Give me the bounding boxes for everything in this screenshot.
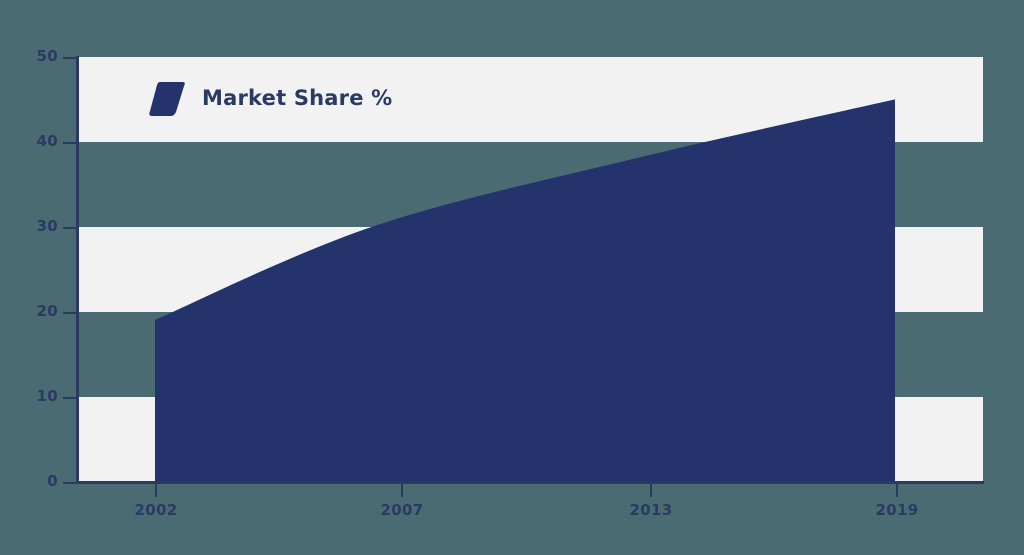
y-tick-20 xyxy=(63,312,76,314)
y-tick-label-20: 20 xyxy=(37,304,58,319)
x-tick-label-2019: 2019 xyxy=(857,503,937,518)
y-tick-10 xyxy=(63,397,76,399)
y-tick-label-30-wrap: 30 xyxy=(0,219,58,235)
x-axis-line xyxy=(76,481,984,484)
x-tick-2002 xyxy=(155,484,157,497)
x-tick-label-2013: 2013 xyxy=(611,503,691,518)
legend-marker-market-share[interactable] xyxy=(148,79,186,117)
y-tick-label-0: 0 xyxy=(47,474,58,489)
area-chart: 50 40 30 20 10 0 2002 2007 2013 2019 Mar… xyxy=(0,0,1024,555)
y-tick-50 xyxy=(63,57,76,59)
y-tick-0 xyxy=(63,482,76,484)
y-tick-label-10: 10 xyxy=(37,389,58,404)
y-axis-line xyxy=(76,56,79,484)
y-tick-label-0-wrap: 0 xyxy=(0,474,58,490)
y-tick-label-50-wrap: 50 xyxy=(0,49,58,65)
y-tick-40 xyxy=(63,142,76,144)
x-tick-2019 xyxy=(896,484,898,497)
area-path xyxy=(155,99,895,481)
x-tick-label-2002: 2002 xyxy=(116,503,196,518)
y-tick-label-50: 50 xyxy=(37,49,58,64)
y-tick-label-40: 40 xyxy=(37,134,58,149)
x-tick-label-2007: 2007 xyxy=(362,503,442,518)
legend-marker-shape xyxy=(149,82,184,116)
y-tick-30 xyxy=(63,227,76,229)
x-tick-2013 xyxy=(650,484,652,497)
x-tick-2007 xyxy=(401,484,403,497)
y-tick-label-20-wrap: 20 xyxy=(0,304,58,320)
y-tick-label-40-wrap: 40 xyxy=(0,134,58,150)
y-tick-label-10-wrap: 10 xyxy=(0,389,58,405)
legend-label-market-share: Market Share % xyxy=(202,86,392,110)
y-tick-label-30: 30 xyxy=(37,219,58,234)
legend: Market Share % xyxy=(148,79,392,117)
